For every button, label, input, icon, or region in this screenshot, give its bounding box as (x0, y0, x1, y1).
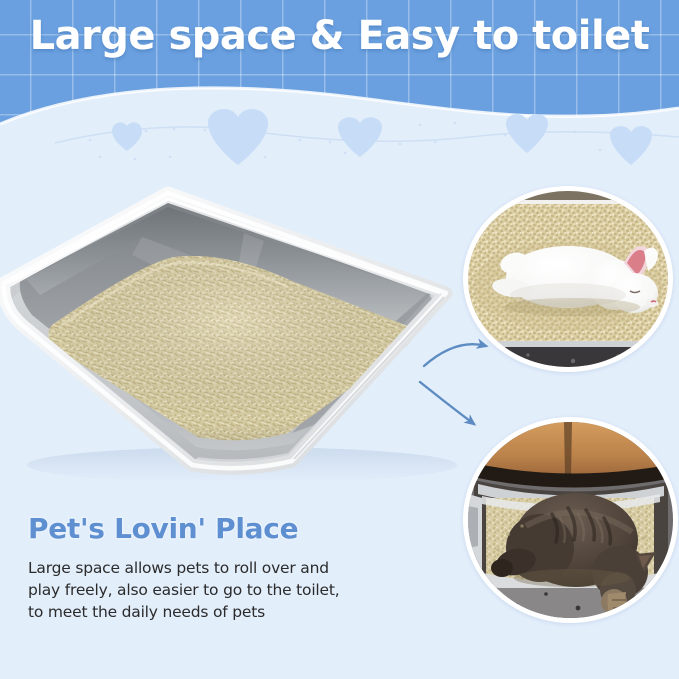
arrow-to-rabbit (424, 344, 486, 366)
feature-description: Large space allows pets to roll over and… (28, 557, 448, 623)
page-title: Large space & Easy to toilet (0, 13, 679, 59)
connector-arrows (400, 320, 530, 450)
feature-heading: Pet's Lovin' Place (28, 512, 448, 545)
stainless-steel-litter-box-photo (0, 175, 462, 485)
heart-decorations (0, 95, 679, 180)
arrow-to-cat (420, 382, 474, 424)
feature-text-block: Pet's Lovin' Place Large space allows pe… (28, 512, 448, 623)
marketing-image: Large space & Easy to toilet (0, 0, 679, 679)
